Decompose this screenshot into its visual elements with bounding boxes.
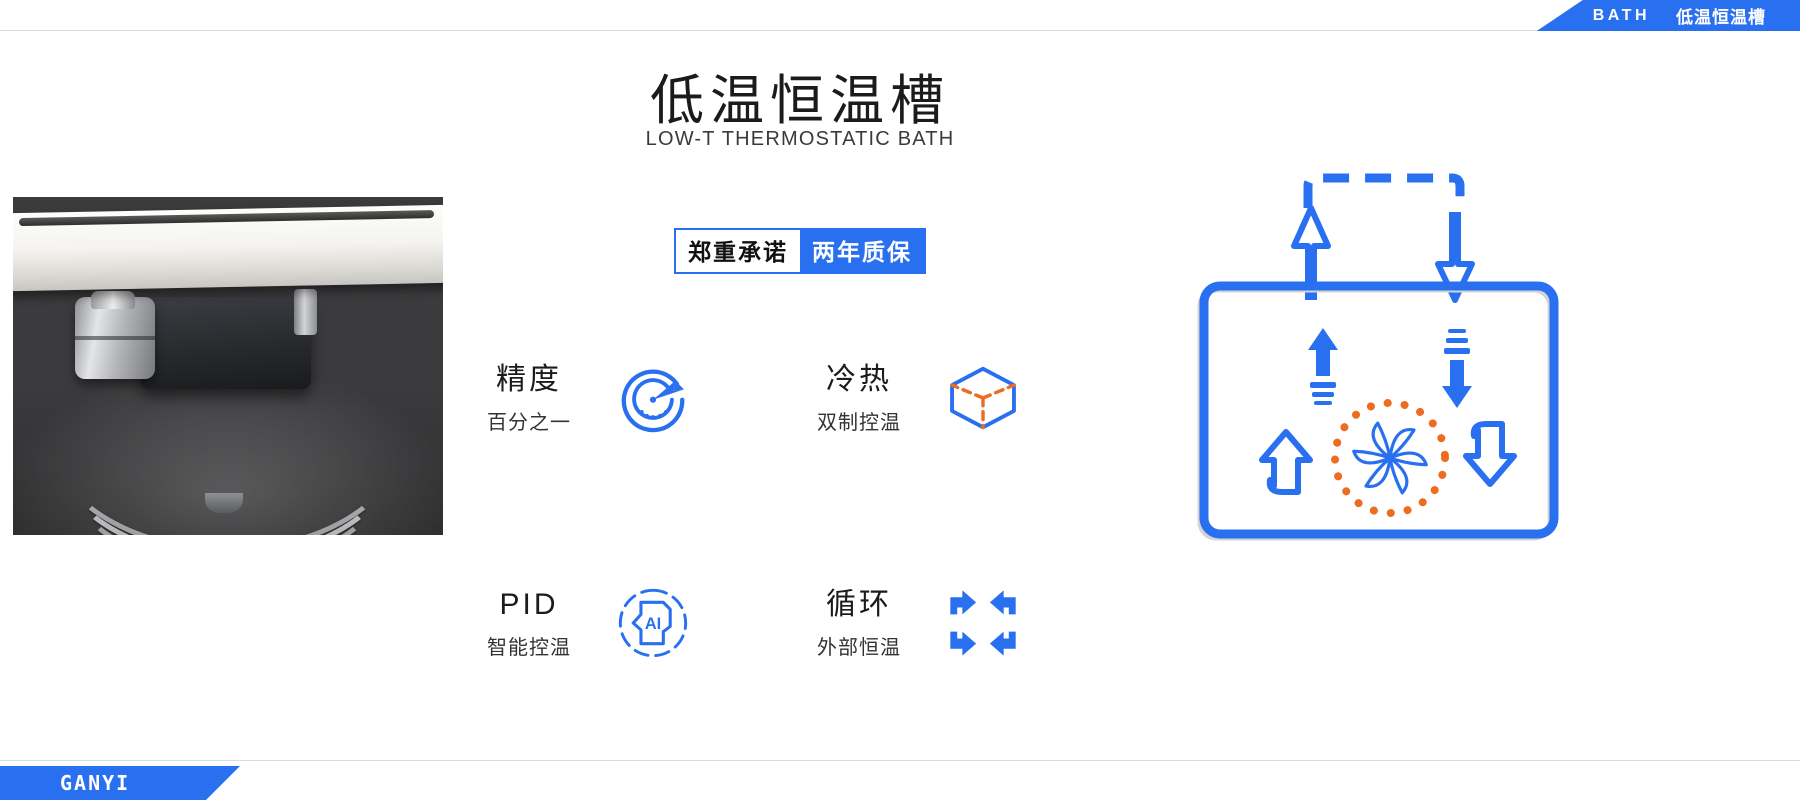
feature-subtitle: 百分之一: [470, 406, 588, 435]
feature-title: PID: [470, 586, 588, 624]
promise-badge-left: 郑重承诺: [676, 230, 800, 272]
feature-item-heat-cool: 冷热 双制控温: [800, 355, 1026, 441]
page-title-text: 低温恒温槽: [650, 56, 950, 135]
fan-blades-icon: [1353, 423, 1426, 493]
feature-item-pid: PID 智能控温 AI: [470, 580, 696, 666]
solid-up-arrow: [1308, 328, 1338, 405]
outline-down-arrow-internal: [1466, 424, 1514, 484]
target-arrow-icon: [610, 355, 696, 441]
feature-text: 冷热 双制控温: [800, 361, 918, 436]
photo-cylinder-cap: [91, 291, 135, 309]
feature-text: PID 智能控温: [470, 586, 588, 661]
feature-title: 冷热: [800, 361, 918, 399]
top-bar-tag-en: BATH: [1593, 7, 1650, 25]
tank-outline: [1204, 286, 1554, 534]
photo-shaft: [294, 289, 317, 335]
page-subtitle-text: LOW-T THERMOSTATIC BATH: [646, 128, 955, 151]
photo-cylinder-band: [75, 336, 155, 340]
feature-subtitle: 外部恒温: [800, 631, 918, 660]
outline-up-arrow-internal: [1262, 432, 1310, 492]
photo-lid-edge: [19, 210, 434, 226]
top-bar: BATH 低温恒温槽: [0, 0, 1800, 32]
feature-title: 循环: [800, 586, 918, 624]
footer-brand-tag: GANYI: [0, 766, 240, 800]
footer: GANYI: [0, 760, 1800, 800]
feature-item-precision: 精度 百分之一: [470, 355, 696, 441]
page-title: 低温恒温槽: [0, 56, 1800, 135]
page-subtitle: LOW-T THERMOSTATIC BATH: [0, 128, 1800, 151]
hexagon-cube-icon: [940, 355, 1026, 441]
top-bar-tag: BATH 低温恒温槽: [1537, 0, 1800, 31]
top-bar-tag-cn: 低温恒温槽: [1676, 3, 1766, 28]
feature-text: 精度 百分之一: [470, 361, 588, 436]
top-divider: [0, 30, 1800, 31]
promise-badge-right: 两年质保: [800, 230, 924, 272]
feature-title: 精度: [470, 361, 588, 399]
solid-down-arrow: [1442, 329, 1472, 408]
feature-item-circulation: 循环 外部恒温: [800, 580, 1026, 666]
dashed-external-loop: [1308, 178, 1460, 208]
feature-text: 循环 外部恒温: [800, 586, 918, 661]
product-banner-page: BATH 低温恒温槽 低温恒温槽 LOW-T THERMOSTATIC BATH…: [0, 0, 1800, 800]
feature-subtitle: 智能控温: [470, 631, 588, 660]
svg-text:AI: AI: [645, 615, 661, 633]
feature-subtitle: 双制控温: [800, 406, 918, 435]
tank-shadow: [1200, 290, 1550, 538]
circulation-arrows-icon: [940, 580, 1026, 666]
promise-badge: 郑重承诺 两年质保: [674, 228, 926, 274]
brand-logo: GANYI: [60, 771, 130, 795]
ai-head-icon: AI: [610, 580, 696, 666]
circulation-flow-diagram: [1190, 150, 1590, 560]
feature-grid: 精度 百分之一 冷热 双制控温: [470, 355, 1110, 695]
footer-divider: [0, 760, 1800, 761]
photo-motor-block: [141, 297, 311, 389]
photo-foot: [205, 493, 243, 513]
